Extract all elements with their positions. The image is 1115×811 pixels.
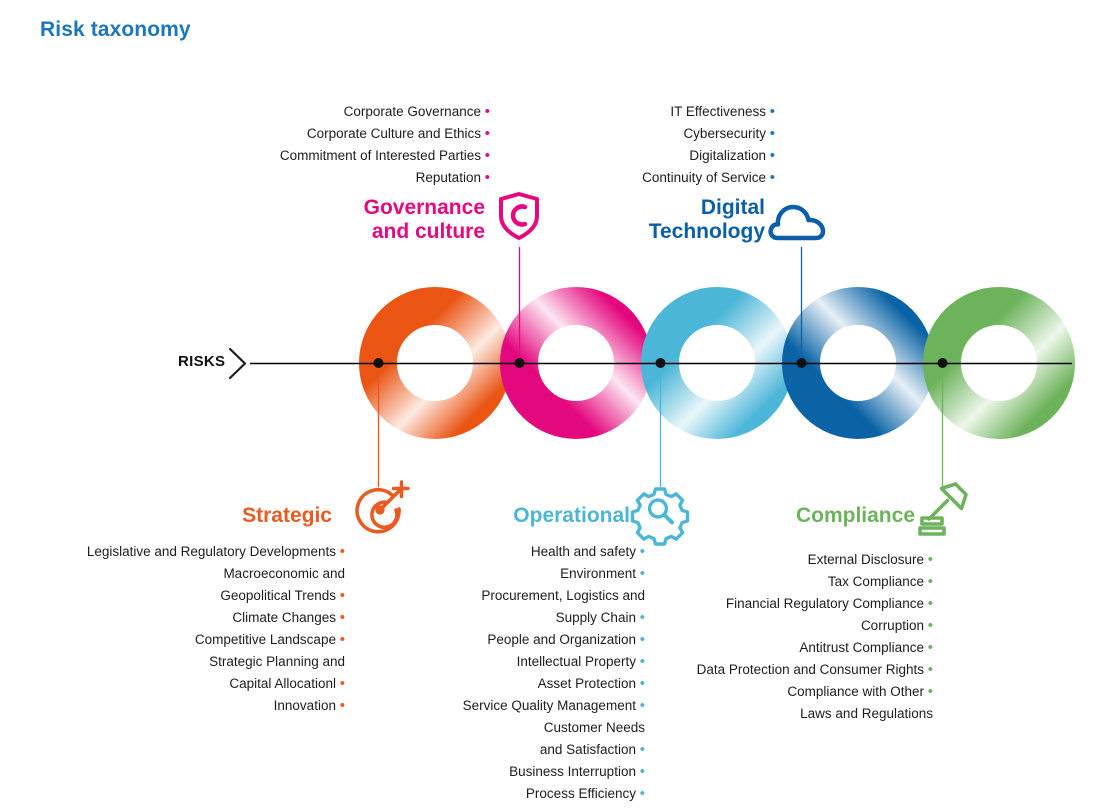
bullet-icon: • [485, 147, 490, 164]
bullet-icon: • [340, 609, 345, 626]
category-heading-strategic: Strategic [150, 504, 332, 528]
item-list-operational: Health and safety • Environment • Procur… [380, 541, 645, 805]
bullet-icon: • [485, 169, 490, 186]
ring-digital-technology [801, 306, 915, 420]
bullet-icon: • [770, 103, 775, 120]
list-item: Health and safety • [380, 541, 645, 563]
item-list-governance: Corporate Governance • Corporate Culture… [190, 101, 490, 189]
bullet-icon: • [928, 573, 933, 590]
list-item: IT Effectiveness • [520, 101, 775, 123]
bullet-icon: • [770, 125, 775, 142]
list-item: Data Protection and Consumer Rights • [640, 659, 933, 681]
bullet-icon: • [485, 103, 490, 120]
item-list-digital-technology: IT Effectiveness • Cybersecurity • Digit… [520, 101, 775, 189]
list-item: Legislative and Regulatory Developments … [40, 541, 345, 563]
ring-governance [519, 306, 633, 420]
list-item: Business Interruption • [380, 761, 645, 783]
category-heading-digital-technology: Digital Technology [620, 196, 765, 243]
list-item: Innovation • [40, 695, 345, 717]
bullet-icon: • [485, 125, 490, 142]
axis-dot-operational [656, 358, 666, 368]
page-title: Risk taxonomy [40, 18, 191, 42]
bullet-icon: • [340, 543, 345, 560]
list-item: Intellectual Property • [380, 651, 645, 673]
list-item: Service Quality Management • [380, 695, 645, 717]
gavel-icon [920, 484, 966, 534]
bullet-icon: • [340, 631, 345, 648]
bullet-icon: • [640, 785, 645, 802]
list-item: Financial Regulatory Compliance • [640, 593, 933, 615]
bullet-icon: • [928, 639, 933, 656]
list-item: Continuity of Service • [520, 167, 775, 189]
item-list-strategic: Legislative and Regulatory Developments … [40, 541, 345, 717]
bullet-icon: • [340, 675, 345, 692]
bullet-icon: • [640, 763, 645, 780]
bullet-icon: • [928, 595, 933, 612]
bullet-icon: • [770, 147, 775, 164]
list-item: Tax Compliance • [640, 571, 933, 593]
list-item: Digitalization • [520, 145, 775, 167]
axis-dot-strategic [374, 358, 384, 368]
list-item: Corruption • [640, 615, 933, 637]
list-item: Customer Needs and Satisfaction • [380, 717, 645, 761]
list-item: Strategic Planning and Capital Allocatio… [40, 651, 345, 695]
list-item: Process Efficiency • [380, 783, 645, 805]
list-item: Macroeconomic and Geopolitical Trends • [40, 563, 345, 607]
list-item: Procurement, Logistics and Supply Chain … [380, 585, 645, 629]
list-item: People and Organization • [380, 629, 645, 651]
bullet-icon: • [340, 697, 345, 714]
risk-taxonomy-infographic: Risk taxonomy RISKS [0, 0, 1115, 811]
risks-axis-label: RISKS [178, 353, 225, 370]
list-item: Competitive Landscape • [40, 629, 345, 651]
list-item: Antitrust Compliance • [640, 637, 933, 659]
bullet-icon: • [928, 551, 933, 568]
category-heading-operational: Operational [430, 504, 630, 528]
cloud-icon [771, 207, 823, 238]
list-item: Commitment of Interested Parties • [190, 145, 490, 167]
bullet-icon: • [928, 683, 933, 700]
gear-search-icon [633, 489, 688, 544]
list-item: Reputation • [190, 167, 490, 189]
list-item: Cybersecurity • [520, 123, 775, 145]
category-heading-compliance: Compliance [700, 504, 915, 528]
bullet-icon: • [640, 741, 645, 758]
category-heading-governance: Governance and culture [310, 196, 485, 243]
ring-strategic [378, 306, 492, 420]
ring-operational [660, 306, 774, 420]
target-icon [357, 482, 408, 532]
shield-c-icon [501, 194, 537, 238]
axis-chevron-icon [230, 349, 245, 378]
list-item: External Disclosure • [640, 549, 933, 571]
axis-dot-governance [515, 358, 525, 368]
list-item: Environment • [380, 563, 645, 585]
list-item: Corporate Culture and Ethics • [190, 123, 490, 145]
axis-dot-digital [797, 358, 807, 368]
list-item: Corporate Governance • [190, 101, 490, 123]
bullet-icon: • [928, 617, 933, 634]
bullet-icon: • [340, 587, 345, 604]
ring-compliance [942, 306, 1056, 420]
list-item: Asset Protection • [380, 673, 645, 695]
bullet-icon: • [928, 661, 933, 678]
bullet-icon: • [770, 169, 775, 186]
list-item: Compliance with Other •Laws and Regulati… [640, 681, 933, 725]
item-list-compliance: External Disclosure • Tax Compliance • F… [640, 549, 933, 725]
list-item: Climate Changes • [40, 607, 345, 629]
axis-dot-compliance [938, 358, 948, 368]
